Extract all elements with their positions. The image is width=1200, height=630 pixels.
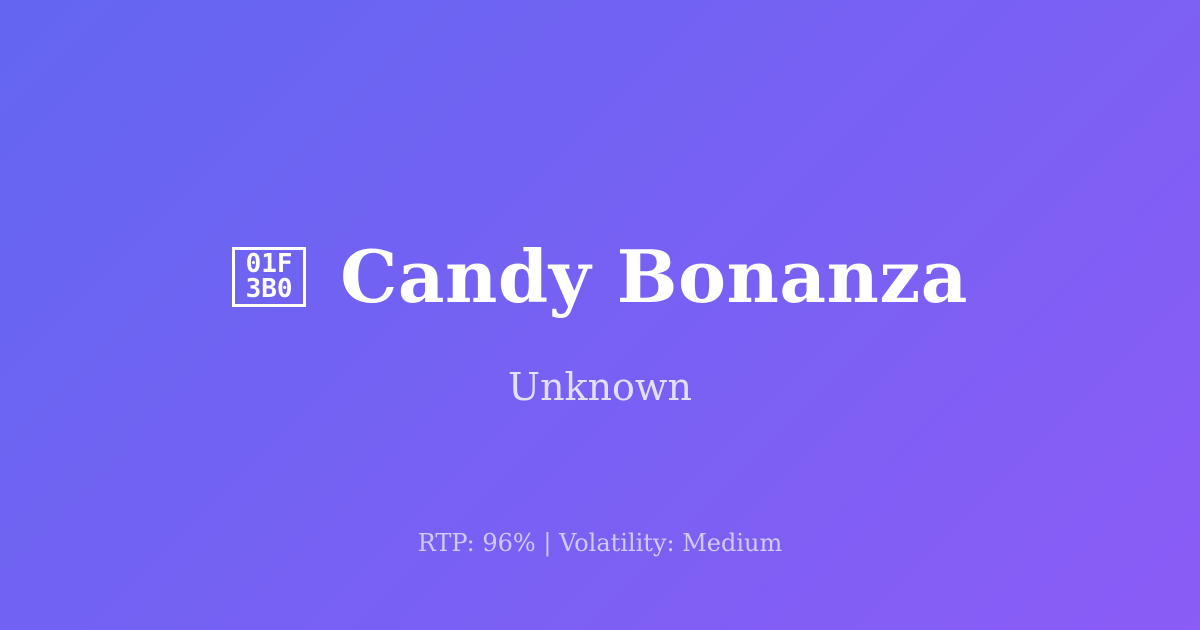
provider-subtitle: Unknown xyxy=(0,365,1200,409)
slot-machine-icon-codepoint-bottom: 3B0 xyxy=(246,277,293,302)
game-preview-card: 01F 3B0 Candy Bonanza Unknown RTP: 96% |… xyxy=(0,0,1200,630)
slot-machine-icon: 01F 3B0 xyxy=(232,247,306,307)
page-title: Candy Bonanza xyxy=(340,241,968,313)
game-stats-line: RTP: 96% | Volatility: Medium xyxy=(0,528,1200,558)
hero-row: 01F 3B0 Candy Bonanza xyxy=(0,232,1200,322)
